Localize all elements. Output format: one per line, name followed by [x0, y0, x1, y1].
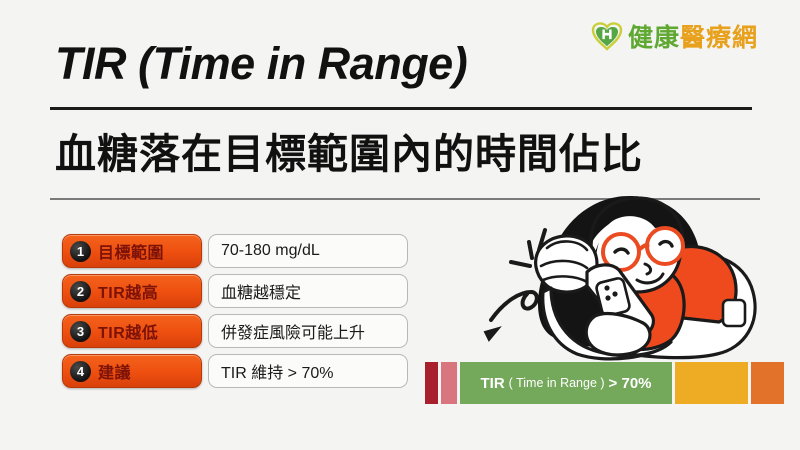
- list-item: 1 目標範圍 70-180 mg/dL: [62, 234, 408, 268]
- page-title-chinese: 血糖落在目標範圍內的時間佔比: [55, 120, 643, 180]
- list-item-number: 2: [70, 281, 91, 302]
- banner-label-value: > 70%: [609, 375, 652, 392]
- list-item-number: 3: [70, 321, 91, 342]
- list-item-value: 血糖越穩定: [208, 274, 408, 308]
- brand-name-green: 健康: [628, 24, 680, 52]
- list-item: 4 建議 TIR 維持 > 70%: [62, 354, 408, 388]
- brand-name-orange: 醫療網: [680, 24, 758, 52]
- list-item-label: 目標範圍: [98, 239, 164, 263]
- list-item-pill: 1 目標範圍: [62, 234, 202, 268]
- woman-with-phone-illustration: [495, 188, 795, 374]
- fact-list: 1 目標範圍 70-180 mg/dL 2 TIR越高 血糖越穩定 3 TIR越…: [62, 234, 408, 388]
- range-segment-low: [441, 362, 457, 404]
- infographic-canvas: 健康醫療網 TIR (Time in Range) 血糖落在目標範圍內的時間佔比…: [0, 0, 800, 450]
- range-segment-very-low: [425, 362, 438, 404]
- list-item-value: 併發症風險可能上升: [208, 314, 408, 348]
- page-title-english: TIR (Time in Range): [55, 38, 467, 90]
- list-item-label: TIR越低: [98, 319, 158, 343]
- list-item-value: TIR 維持 > 70%: [208, 354, 408, 388]
- list-item: 2 TIR越高 血糖越穩定: [62, 274, 408, 308]
- list-item-pill: 4 建議: [62, 354, 202, 388]
- list-item-number: 4: [70, 361, 91, 382]
- list-item-pill: 3 TIR越低: [62, 314, 202, 348]
- brand-name: 健康醫療網: [628, 18, 758, 54]
- heart-h-icon: [590, 21, 622, 51]
- banner-label-paren: ( Time in Range ): [509, 376, 605, 390]
- list-item-label: TIR越高: [98, 279, 158, 303]
- list-item-value: 70-180 mg/dL: [208, 234, 408, 268]
- banner-label-tir: TIR: [481, 375, 505, 392]
- brand-logo: 健康醫療網: [590, 18, 758, 54]
- list-item: 3 TIR越低 併發症風險可能上升: [62, 314, 408, 348]
- list-item-number: 1: [70, 241, 91, 262]
- list-item-label: 建議: [98, 359, 131, 383]
- list-item-pill: 2 TIR越高: [62, 274, 202, 308]
- divider-thick: [50, 107, 752, 110]
